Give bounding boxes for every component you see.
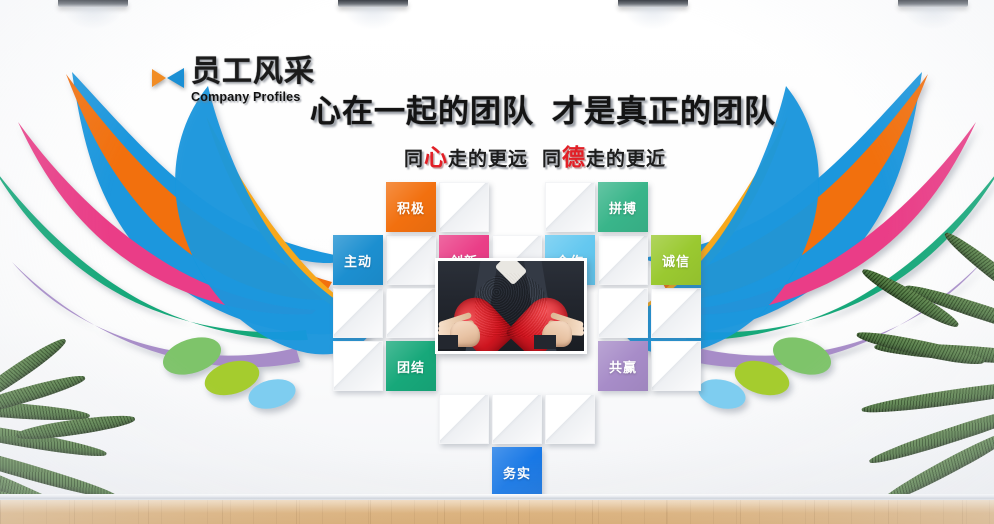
value-tile-label: 主动 bbox=[344, 251, 372, 270]
heart-in-hands-photo bbox=[435, 258, 587, 354]
hand-left bbox=[440, 301, 484, 347]
wall-display-scene: 员工风采 Company Profiles 心在一起的团队才是真正的团队 同心走… bbox=[0, 0, 994, 524]
value-tile-5[interactable]: 诚信 bbox=[651, 235, 701, 285]
logo-title-cn: 员工风采 bbox=[191, 57, 315, 87]
value-tile-label: 团结 bbox=[397, 357, 425, 376]
blank-tile bbox=[545, 394, 595, 444]
rose-heart bbox=[475, 273, 547, 337]
headline-main: 心在一起的团队才是真正的团队 bbox=[310, 96, 760, 129]
bowtie-arrow-icon bbox=[150, 65, 186, 91]
value-tile-0[interactable]: 积极 bbox=[386, 182, 436, 232]
value-tile-label: 共赢 bbox=[609, 357, 637, 376]
value-tile-label: 诚信 bbox=[662, 251, 690, 270]
blank-tile bbox=[333, 288, 383, 338]
headline-main-left: 心在一起的团队 bbox=[310, 94, 534, 130]
blank-tile bbox=[333, 341, 383, 391]
blank-tile bbox=[439, 182, 489, 232]
sub-right-suffix: 走的更近 bbox=[586, 148, 666, 170]
logo: 员工风采 Company Profiles bbox=[150, 57, 315, 104]
value-tile-8[interactable]: 务实 bbox=[492, 447, 542, 497]
blank-tile bbox=[651, 341, 701, 391]
blank-tile bbox=[651, 288, 701, 338]
value-tile-1[interactable]: 拼搏 bbox=[598, 182, 648, 232]
sub-right-prefix: 同 bbox=[542, 148, 562, 170]
hand-right bbox=[538, 301, 582, 347]
blank-tile bbox=[598, 288, 648, 338]
blank-tile bbox=[545, 182, 595, 232]
blank-tile bbox=[386, 288, 436, 338]
sub-left-prefix: 同 bbox=[404, 148, 424, 170]
value-tile-6[interactable]: 团结 bbox=[386, 341, 436, 391]
sub-left-suffix: 走的更远 bbox=[448, 148, 528, 170]
headline-sub: 同心走的更远同德走的更近 bbox=[310, 138, 760, 172]
value-tile-label: 务实 bbox=[503, 463, 531, 482]
blank-tile bbox=[386, 235, 436, 285]
blank-tile bbox=[492, 394, 542, 444]
sub-left-highlight: 心 bbox=[424, 145, 448, 171]
tile-grid: 积极拼搏主动创新合作诚信团结共赢务实 bbox=[333, 182, 661, 448]
logo-title-en: Company Profiles bbox=[191, 90, 315, 104]
wood-floor bbox=[0, 500, 994, 524]
value-tile-label: 积极 bbox=[397, 198, 425, 217]
blank-tile bbox=[598, 235, 648, 285]
sub-right-highlight: 德 bbox=[562, 145, 586, 171]
value-tile-2[interactable]: 主动 bbox=[333, 235, 383, 285]
headline-main-right: 才是真正的团队 bbox=[552, 94, 776, 130]
value-tile-label: 拼搏 bbox=[609, 198, 637, 217]
value-tile-7[interactable]: 共赢 bbox=[598, 341, 648, 391]
blank-tile bbox=[439, 394, 489, 444]
headline-block: 心在一起的团队才是真正的团队 同心走的更远同德走的更近 bbox=[310, 96, 760, 172]
